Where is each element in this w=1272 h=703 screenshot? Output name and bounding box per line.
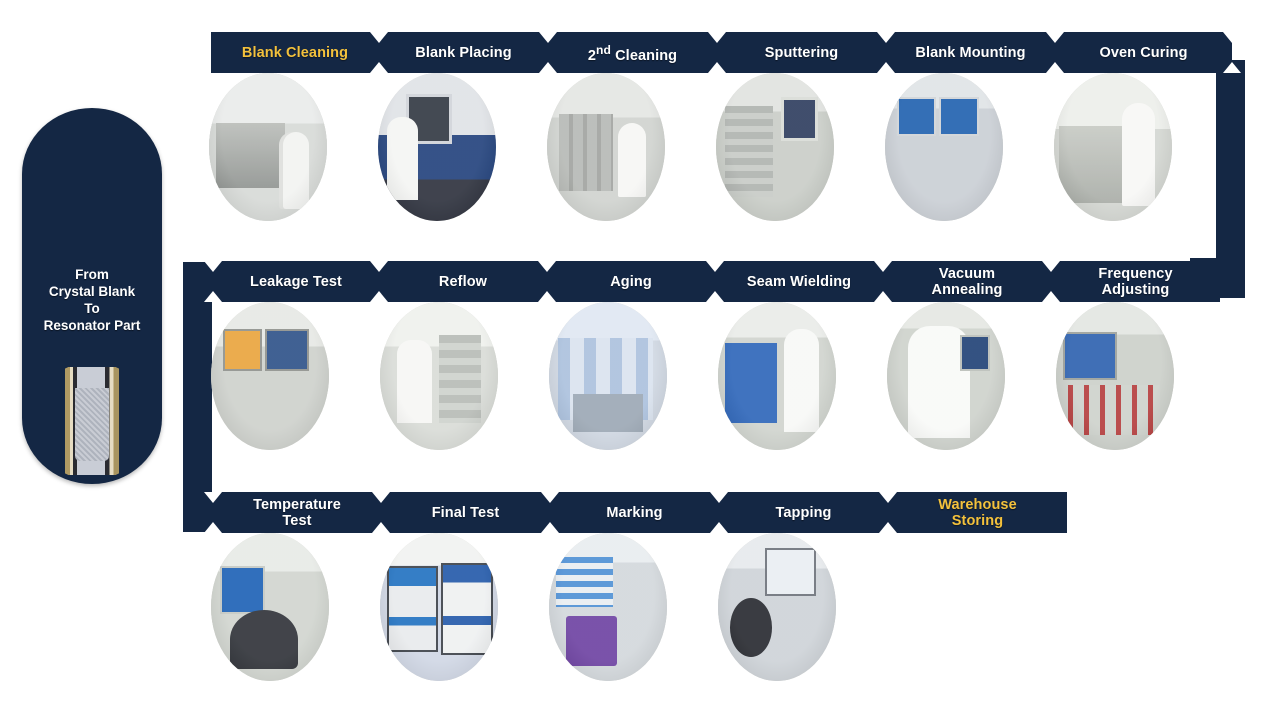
step-seam-wielding[interactable]: Seam Wielding — [715, 261, 883, 302]
reflow-photo — [380, 302, 498, 450]
step-label: Frequency Adjusting — [1098, 266, 1172, 298]
step-label: Seam Wielding — [747, 274, 851, 290]
step-leakage-test[interactable]: Leakage Test — [213, 261, 379, 302]
step-reflow[interactable]: Reflow — [379, 261, 547, 302]
tapping-photo — [718, 533, 836, 681]
step-2nd-cleaning[interactable]: 2nd Cleaning — [548, 32, 717, 73]
step-label: Aging — [610, 274, 652, 290]
step-frequency-adjusting[interactable]: Frequency Adjusting — [1051, 261, 1220, 302]
step-blank-cleaning[interactable]: Blank Cleaning — [211, 32, 379, 73]
temperature-test-photo — [211, 533, 329, 681]
step-label: 2nd Cleaning — [588, 42, 677, 64]
resonator-part-photo — [33, 362, 151, 480]
oven-curing-photo — [1054, 73, 1172, 221]
seam-wielding-photo — [718, 302, 836, 450]
process-flow-diagram: From Crystal Blank To Resonator Part Bla… — [0, 0, 1272, 703]
step-oven-curing[interactable]: Oven Curing — [1055, 32, 1232, 73]
step-vacuum-annealing[interactable]: Vacuum Annealing — [883, 261, 1051, 302]
step-label: Blank Placing — [415, 45, 511, 61]
second-cleaning-photo — [547, 73, 665, 221]
frequency-adjusting-photo — [1056, 302, 1174, 450]
step-label: Marking — [606, 505, 662, 521]
final-test-photo — [380, 533, 498, 681]
sputtering-photo — [716, 73, 834, 221]
step-temperature-test[interactable]: Temperature Test — [213, 492, 381, 533]
step-label: Vacuum Annealing — [932, 266, 1003, 298]
step-blank-mounting[interactable]: Blank Mounting — [886, 32, 1055, 73]
step-label: Warehouse Storing — [938, 497, 1017, 529]
step-label: Temperature Test — [253, 497, 341, 529]
blank-placing-photo — [378, 73, 496, 221]
leakage-test-photo — [211, 302, 329, 450]
connector-row2-to-row3-vertical — [183, 288, 212, 520]
process-band-row-3: Temperature Test Final Test Marking Tapp… — [213, 492, 1067, 533]
intro-pill: From Crystal Blank To Resonator Part — [22, 108, 162, 484]
process-band-row-1: Blank Cleaning Blank Placing 2nd Cleanin… — [211, 32, 1232, 73]
intro-caption: From Crystal Blank To Resonator Part — [44, 266, 141, 334]
process-band-row-2: Leakage Test Reflow Aging Seam Wielding … — [213, 261, 1220, 302]
step-aging[interactable]: Aging — [547, 261, 715, 302]
step-label: Leakage Test — [250, 274, 342, 290]
step-label: Oven Curing — [1099, 45, 1187, 61]
step-marking[interactable]: Marking — [550, 492, 719, 533]
step-warehouse-storing[interactable]: Warehouse Storing — [888, 492, 1067, 533]
blank-cleaning-photo — [209, 73, 327, 221]
vacuum-annealing-photo — [887, 302, 1005, 450]
marking-photo — [549, 533, 667, 681]
step-sputtering[interactable]: Sputtering — [717, 32, 886, 73]
step-label: Final Test — [432, 505, 500, 521]
step-final-test[interactable]: Final Test — [381, 492, 550, 533]
step-blank-placing[interactable]: Blank Placing — [379, 32, 548, 73]
step-label: Tapping — [775, 505, 831, 521]
crystal-blank-photo — [33, 122, 151, 240]
step-label: Blank Mounting — [915, 45, 1025, 61]
step-label: Reflow — [439, 274, 487, 290]
step-tapping[interactable]: Tapping — [719, 492, 888, 533]
step-label: Sputtering — [765, 45, 839, 61]
step-label: Blank Cleaning — [242, 45, 348, 61]
blank-mounting-photo — [885, 73, 1003, 221]
aging-photo — [549, 302, 667, 450]
